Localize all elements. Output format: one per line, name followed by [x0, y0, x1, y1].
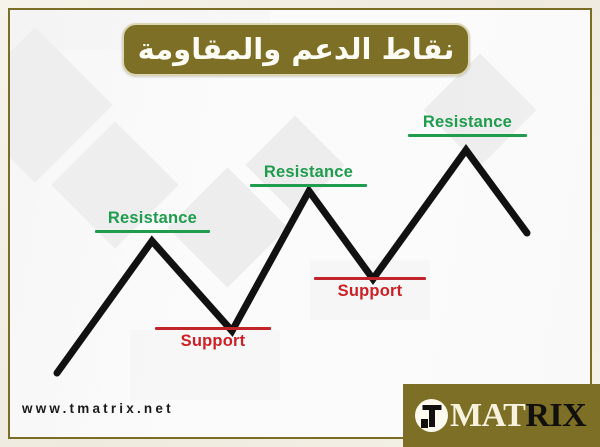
- resistance-level-line: [408, 134, 527, 137]
- resistance-level-line: [250, 184, 367, 187]
- annotation-label-text: Support: [314, 282, 426, 301]
- t-stem: [429, 405, 435, 427]
- website-url[interactable]: www.tmatrix.net: [22, 401, 174, 416]
- infographic-card: Resistance Resistance Resistance Support…: [0, 0, 600, 447]
- annotation-resistance-1: Resistance: [95, 209, 210, 233]
- brand-logo: MATRIX: [403, 384, 600, 447]
- annotation-label-text: Resistance: [408, 113, 527, 132]
- support-level-line: [314, 277, 426, 280]
- logo-word-primary: MAT: [450, 399, 525, 433]
- page-title: نقاط الدعم والمقاومة: [138, 35, 455, 64]
- t-notch: [421, 419, 428, 428]
- annotation-resistance-3: Resistance: [408, 113, 527, 137]
- circle-t-icon: [415, 399, 448, 432]
- annotation-support-1: Support: [155, 327, 271, 351]
- logo-word-secondary: RIX: [525, 399, 586, 433]
- annotation-label-text: Support: [155, 332, 271, 351]
- title-badge: نقاط الدعم والمقاومة: [122, 23, 470, 76]
- annotation-label-text: Resistance: [250, 163, 367, 182]
- resistance-level-line: [95, 230, 210, 233]
- support-level-line: [155, 327, 271, 330]
- annotation-support-2: Support: [314, 277, 426, 301]
- annotation-label-text: Resistance: [95, 209, 210, 228]
- annotation-resistance-2: Resistance: [250, 163, 367, 187]
